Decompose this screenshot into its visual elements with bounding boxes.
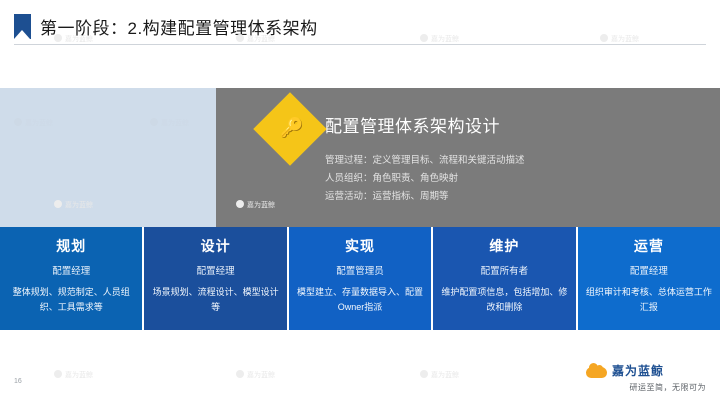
phase-desc: 模型建立、存量数据导入、配置Owner指派: [297, 285, 423, 315]
page-title: 第一阶段：2.构建配置管理体系架构: [40, 14, 318, 39]
banner-line: 人员组织：角色职责、角色映射: [325, 170, 705, 188]
phase-column-implementation[interactable]: 实现 配置管理员 模型建立、存量数据导入、配置Owner指派: [289, 227, 433, 330]
phase-desc: 整体规划、规范制定、人员组织、工具需求等: [8, 285, 134, 315]
banner-title: 配置管理体系架构设计: [325, 112, 500, 137]
page-number: 16: [14, 378, 22, 385]
phase-columns: 规划 配置经理 整体规划、规范制定、人员组织、工具需求等 设计 配置经理 场景规…: [0, 227, 720, 330]
phase-role: 配置经理: [0, 263, 142, 277]
phase-role: 配置经理: [578, 263, 720, 277]
banner-lines: 管理过程：定义管理目标、流程和关键活动描述 人员组织：角色职责、角色映射 运营活…: [325, 152, 705, 206]
banner-line: 运营活动：运营指标、周期等: [325, 188, 705, 206]
watermark: 嘉为蓝鲸: [420, 370, 459, 380]
phase-column-maintenance[interactable]: 维护 配置所有者 维护配置项信息，包括增加、修改和删除: [433, 227, 577, 330]
banner-left-panel: [0, 88, 216, 227]
logo-tagline: 研运至简，无限可为: [586, 382, 706, 393]
header-divider: [14, 44, 706, 45]
cloud-icon: [586, 364, 608, 378]
phase-column-operation[interactable]: 运营 配置经理 组织审计和考核、总体运营工作汇报: [578, 227, 720, 330]
phase-desc: 场景规划、流程设计、模型设计等: [152, 285, 278, 315]
phase-desc: 组织审计和考核、总体运营工作汇报: [586, 285, 712, 315]
phase-role: 配置管理员: [289, 263, 431, 277]
slide-header: 第一阶段：2.构建配置管理体系架构: [0, 8, 720, 46]
watermark: 嘉为蓝鲸: [236, 370, 275, 380]
phase-title: 实现: [289, 236, 431, 256]
phase-role: 配置所有者: [433, 263, 575, 277]
phase-title: 运营: [578, 236, 720, 256]
phase-role: 配置经理: [144, 263, 286, 277]
phase-title: 规划: [0, 236, 142, 256]
slide: 第一阶段：2.构建配置管理体系架构 🔑 配置管理体系架构设计 管理过程：定义管理…: [0, 0, 720, 405]
watermark: 嘉为蓝鲸: [54, 370, 93, 380]
logo-name: 嘉为蓝鲸: [612, 362, 664, 379]
phase-title: 设计: [144, 236, 286, 256]
banner-line: 管理过程：定义管理目标、流程和关键活动描述: [325, 152, 705, 170]
phase-title: 维护: [433, 236, 575, 256]
phase-desc: 维护配置项信息，包括增加、修改和删除: [441, 285, 567, 315]
phase-column-design[interactable]: 设计 配置经理 场景规划、流程设计、模型设计等: [144, 227, 288, 330]
key-icon: 🔑: [280, 118, 302, 140]
logo: 嘉为蓝鲸 研运至简，无限可为: [586, 362, 706, 396]
phase-column-planning[interactable]: 规划 配置经理 整体规划、规范制定、人员组织、工具需求等: [0, 227, 144, 330]
flag-icon: [14, 14, 31, 39]
